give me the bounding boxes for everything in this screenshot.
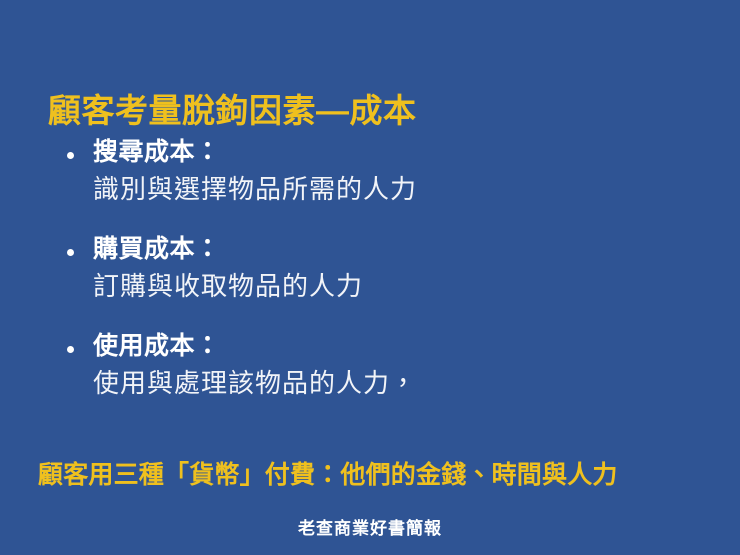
- bullet-item-search-cost: 搜尋成本： 識別與選擇物品所需的人力: [60, 134, 700, 209]
- slide-title: 顧客考量脫鉤因素—成本: [48, 92, 417, 130]
- bullet-item-purchase-cost: 購買成本： 訂購與收取物品的人力: [60, 231, 700, 306]
- bullet-dot-icon: [67, 249, 74, 256]
- bullet-detail: 識別與選擇物品所需的人力: [93, 171, 700, 209]
- bullet-detail: 使用與處理該物品的人力，: [93, 365, 700, 403]
- slide-footer-credit: 老查商業好書簡報: [0, 514, 740, 539]
- bullet-heading: 購買成本：: [93, 231, 700, 267]
- presentation-slide: 顧客考量脫鉤因素—成本 搜尋成本： 識別與選擇物品所需的人力 購買成本： 訂購與…: [0, 0, 740, 555]
- bullet-heading: 使用成本：: [93, 328, 700, 364]
- bullet-item-usage-cost: 使用成本： 使用與處理該物品的人力，: [60, 328, 700, 403]
- bullet-list: 搜尋成本： 識別與選擇物品所需的人力 購買成本： 訂購與收取物品的人力 使用成本…: [60, 134, 700, 425]
- highlight-statement: 顧客用三種「貨幣」付費：他們的金錢、時間與人力: [38, 455, 618, 491]
- bullet-heading: 搜尋成本：: [93, 134, 700, 170]
- bullet-detail: 訂購與收取物品的人力: [93, 268, 700, 306]
- bullet-dot-icon: [67, 346, 74, 353]
- bullet-dot-icon: [67, 152, 74, 159]
